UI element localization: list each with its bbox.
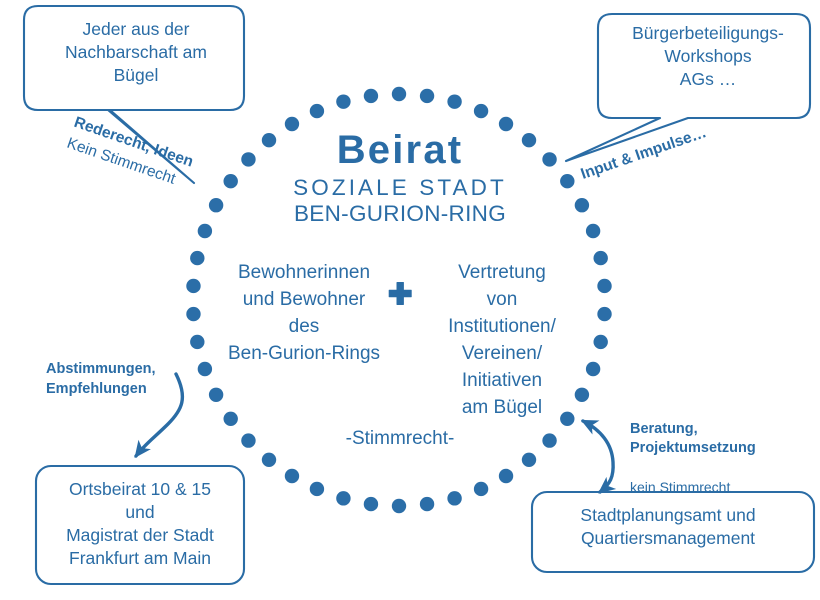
ring-dot [522, 453, 536, 467]
ring-dot [447, 491, 461, 505]
ring-dot [285, 469, 299, 483]
ring-dot [586, 362, 600, 376]
ring-dot [597, 307, 611, 321]
ring-dot [224, 412, 238, 426]
ring-dot [575, 198, 589, 212]
ring-dot [560, 174, 574, 188]
ring-dot [597, 279, 611, 293]
voting-rights-note: -Stimmrecht- [300, 428, 500, 450]
ring-dot [593, 251, 607, 265]
ring-dot [310, 104, 324, 118]
caption-beratung-regular: kein Stimmrecht [630, 478, 800, 497]
ring-dot [198, 224, 212, 238]
diagram-canvas: Jeder aus der Nachbarschaft am Bügel Bür… [0, 0, 820, 600]
ring-dot [474, 482, 488, 496]
members-residents: Bewohnerinnen und Bewohner des Ben-Gurio… [214, 260, 394, 368]
ring-dot [336, 94, 350, 108]
ring-dot [190, 251, 204, 265]
ring-dot [364, 497, 378, 511]
page-subtitle-2: BEN-GURION-RING [245, 203, 555, 226]
box-bottom-left-text: Ortsbeirat 10 & 15 und Magistrat der Sta… [38, 478, 242, 570]
caption-abstimmungen: Abstimmungen, Empfehlungen [46, 360, 196, 399]
ring-dot [542, 433, 556, 447]
ring-dot [392, 499, 406, 513]
arrow-beratung [583, 421, 613, 492]
ring-dot [310, 482, 324, 496]
ring-dot [336, 491, 350, 505]
ring-dot [420, 497, 434, 511]
ring-dot [474, 104, 488, 118]
caption-beratung-bold: Beratung, Projektumsetzung [630, 420, 800, 459]
ring-dot [190, 335, 204, 349]
ring-dot [262, 453, 276, 467]
ring-dot [241, 433, 255, 447]
page-subtitle-1: SOZIALE STADT [245, 177, 555, 200]
ring-dot [209, 388, 223, 402]
members-institutions: Vertretung von Institutionen/ Vereinen/ … [420, 260, 584, 422]
ring-dot [447, 94, 461, 108]
ring-dot [420, 89, 434, 103]
speech-bubble-top-left-text: Jeder aus der Nachbarschaft am Bügel [32, 18, 240, 86]
ring-dot [186, 307, 200, 321]
ring-dot [198, 362, 212, 376]
ring-dot [186, 279, 200, 293]
ring-dot [586, 224, 600, 238]
ring-dot [209, 198, 223, 212]
page-title: Beirat [245, 130, 555, 170]
ring-dot [364, 89, 378, 103]
ring-dot [224, 174, 238, 188]
ring-dot [593, 335, 607, 349]
box-bottom-right-text: Stadtplanungsamt und Quartiersmanagement [530, 504, 806, 550]
ring-dot [499, 469, 513, 483]
ring-dot [392, 87, 406, 101]
caption-beratung: Beratung, Projektumsetzung kein Stimmrec… [630, 400, 800, 517]
speech-bubble-top-right-text: Bürgerbeteiligungs- Workshops AGs … [604, 22, 812, 90]
